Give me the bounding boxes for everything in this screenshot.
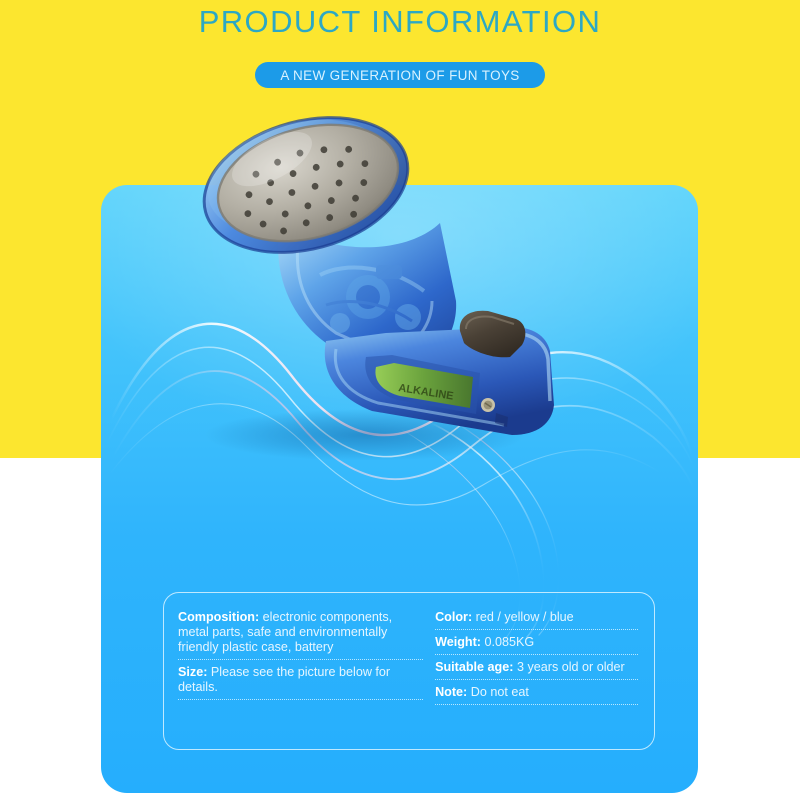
- spec-value: Do not eat: [467, 685, 529, 699]
- specification-box: Composition: electronic components, meta…: [163, 592, 655, 750]
- spec-row: Color: red / yellow / blue: [435, 605, 640, 630]
- subtitle-badge: A NEW GENERATION OF FUN TOYS: [255, 62, 545, 88]
- spec-row: Size: Please see the picture below for d…: [178, 660, 425, 700]
- spec-value: 3 years old or older: [513, 660, 624, 674]
- spec-label: Note:: [435, 685, 467, 699]
- spec-column-left: Composition: electronic components, meta…: [178, 605, 435, 739]
- spec-row: Note: Do not eat: [435, 680, 640, 705]
- header: PRODUCT INFORMATION A NEW GENERATION OF …: [0, 0, 800, 100]
- spec-label: Color:: [435, 610, 472, 624]
- page-title: PRODUCT INFORMATION: [0, 4, 800, 40]
- product-information-page: PRODUCT INFORMATION A NEW GENERATION OF …: [0, 0, 800, 800]
- spec-row: Weight: 0.085KG: [435, 630, 640, 655]
- spec-value: red / yellow / blue: [472, 610, 574, 624]
- spec-label: Composition:: [178, 610, 259, 624]
- spec-column-right: Color: red / yellow / blue Weight: 0.085…: [435, 605, 640, 739]
- product-image: ALKALINE: [140, 105, 560, 460]
- spec-label: Size:: [178, 665, 207, 679]
- spec-label: Suitable age:: [435, 660, 513, 674]
- spec-row: Composition: electronic components, meta…: [178, 605, 425, 660]
- spec-value: Please see the picture below for details…: [178, 665, 390, 694]
- spec-value: 0.085KG: [481, 635, 534, 649]
- spec-label: Weight:: [435, 635, 481, 649]
- spec-row: Suitable age: 3 years old or older: [435, 655, 640, 680]
- subtitle-text: A NEW GENERATION OF FUN TOYS: [280, 68, 519, 83]
